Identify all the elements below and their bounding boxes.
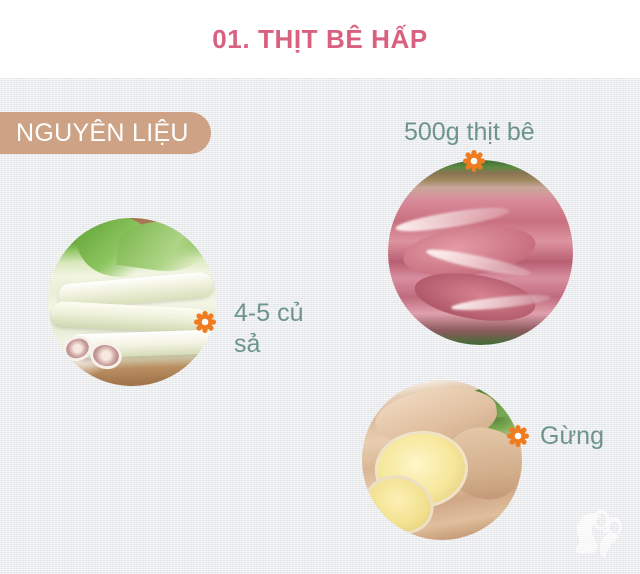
flower-marker-icon <box>507 425 529 447</box>
infographic-page: 01. THỊT BÊ HẤP NGUYÊN LIỆU <box>0 0 640 574</box>
ingredient-label-ginger: Gừng <box>540 421 604 452</box>
section-badge-label: NGUYÊN LIỆU <box>16 119 189 148</box>
lemongrass-photo <box>48 218 216 386</box>
page-title: 01. THỊT BÊ HẤP <box>212 24 428 55</box>
ingredient-label-lemongrass: 4-5 củ sả <box>234 298 303 359</box>
flower-marker-icon <box>463 150 485 172</box>
ingredient-label-meat: 500g thịt bê <box>404 117 535 148</box>
raw-veal-photo <box>388 160 573 345</box>
section-badge: NGUYÊN LIỆU <box>0 112 211 154</box>
flower-marker-icon <box>194 311 216 333</box>
woman-profile-flower-watermark <box>564 504 626 562</box>
ginger-photo <box>362 380 522 540</box>
header-bar: 01. THỊT BÊ HẤP <box>0 0 640 78</box>
